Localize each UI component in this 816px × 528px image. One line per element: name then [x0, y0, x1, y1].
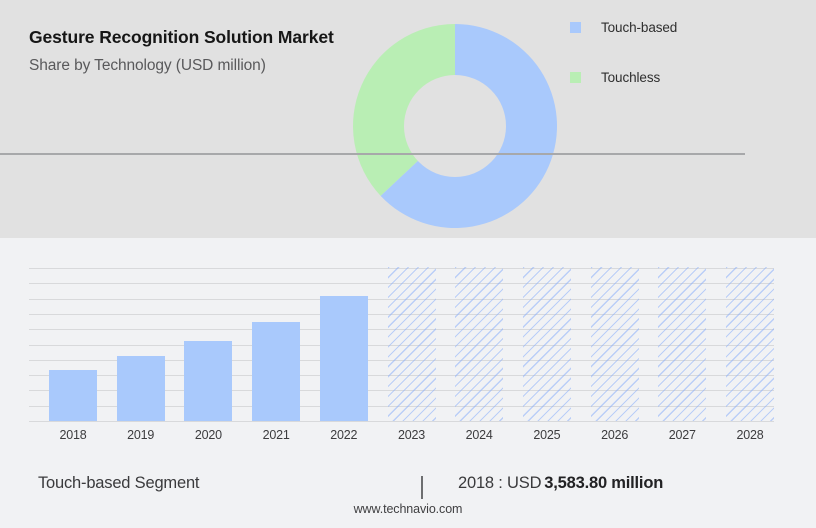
bar-actual[interactable]: [184, 341, 232, 421]
footer-value-amount: 3,583.80 million: [544, 474, 663, 492]
donut-chart: [353, 24, 557, 228]
x-axis-tick-label: 2022: [320, 428, 368, 442]
bar-actual[interactable]: [252, 322, 300, 421]
x-axis-tick-labels: 2018201920202021202220232024202520262027…: [29, 428, 774, 448]
header-band: Gesture Recognition Solution Market Shar…: [0, 0, 816, 238]
x-axis-tick-label: 2028: [726, 428, 774, 442]
donut-hole: [404, 75, 506, 177]
bar-forecast[interactable]: [726, 267, 774, 421]
footer: Touch-based Segment 2018 : USD3,583.80 m…: [0, 462, 816, 528]
footer-divider: [421, 476, 423, 499]
x-axis-tick-label: 2018: [49, 428, 97, 442]
gridline: [29, 421, 774, 422]
x-axis-tick-label: 2025: [523, 428, 571, 442]
square-swatch-icon: [570, 22, 581, 33]
bar-forecast[interactable]: [658, 267, 706, 421]
title-block: Gesture Recognition Solution Market Shar…: [29, 26, 359, 76]
square-swatch-icon: [570, 72, 581, 83]
bar-forecast[interactable]: [591, 267, 639, 421]
x-axis-tick-label: 2027: [658, 428, 706, 442]
bar-forecast[interactable]: [388, 267, 436, 421]
page-subtitle: Share by Technology (USD million): [29, 56, 359, 76]
donut-chart-svg: [353, 24, 557, 228]
footer-segment-label: Touch-based Segment: [38, 474, 199, 493]
footer-url: www.technavio.com: [0, 502, 816, 516]
bar-forecast[interactable]: [455, 267, 503, 421]
bar-actual[interactable]: [117, 356, 165, 421]
page-title: Gesture Recognition Solution Market: [29, 26, 359, 49]
footer-value: 2018 : USD3,583.80 million: [458, 474, 663, 493]
x-axis-tick-label: 2020: [184, 428, 232, 442]
x-axis-tick-label: 2024: [455, 428, 503, 442]
legend-item-touch-based[interactable]: Touch-based: [570, 14, 800, 40]
legend: Touch-based Touchless: [570, 14, 800, 114]
legend-item-label: Touchless: [601, 70, 660, 85]
bar-forecast[interactable]: [523, 267, 571, 421]
bar-actual[interactable]: [320, 296, 368, 421]
legend-item-label: Touch-based: [601, 20, 677, 35]
x-axis-baseline: [0, 153, 745, 155]
bar-chart-plot-area: [29, 268, 774, 422]
bar-actual[interactable]: [49, 370, 97, 421]
x-axis-tick-label: 2023: [388, 428, 436, 442]
x-axis-tick-label: 2019: [117, 428, 165, 442]
legend-item-touchless[interactable]: Touchless: [570, 64, 800, 90]
x-axis-tick-label: 2026: [591, 428, 639, 442]
x-axis-tick-label: 2021: [252, 428, 300, 442]
footer-value-prefix: 2018 : USD: [458, 474, 541, 492]
